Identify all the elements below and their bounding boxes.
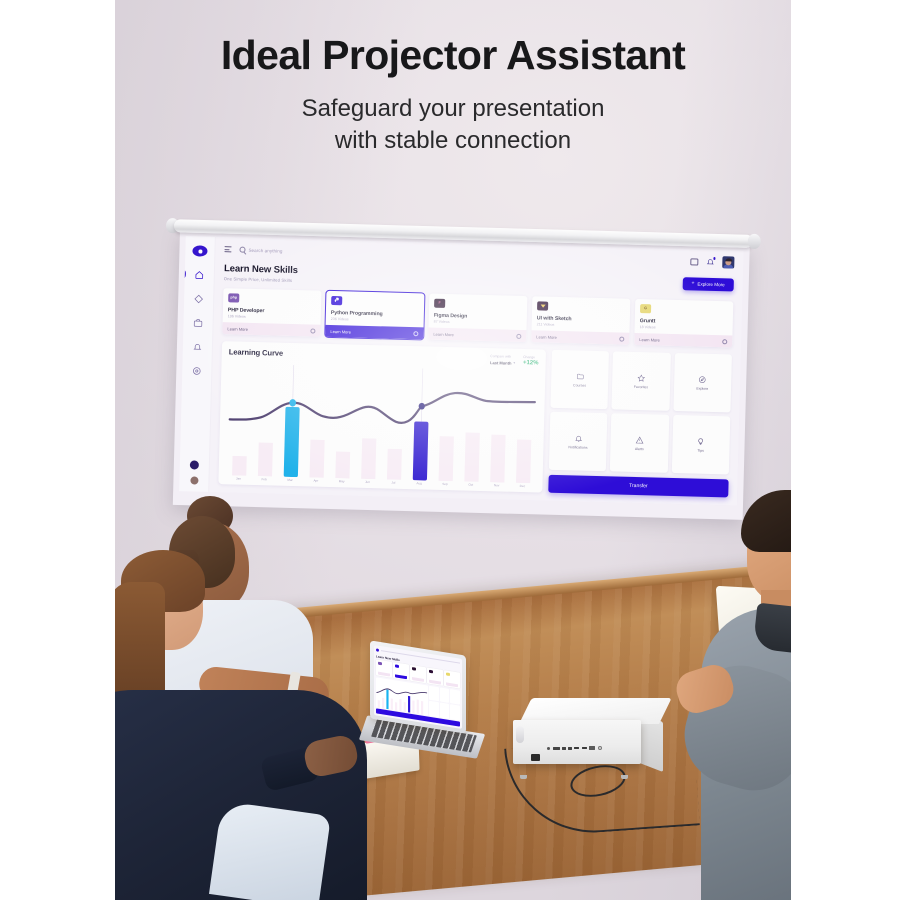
- tile-notifications[interactable]: Notifications: [549, 412, 608, 471]
- explore-more-button[interactable]: + Explore More: [682, 277, 734, 291]
- tile-label: Favorites: [634, 384, 649, 388]
- compare-with-select[interactable]: Compare with Last Month ▾: [490, 354, 515, 366]
- chart-bar-aug-highlight: [413, 421, 429, 480]
- projector-device: [513, 698, 665, 776]
- change-indicator: Change +12%: [523, 355, 539, 366]
- course-cta-label: Learn More: [639, 337, 660, 343]
- port-usb-1: [574, 747, 579, 750]
- course-meta: 236 Videos: [331, 317, 419, 323]
- chart-marker-mar: [289, 399, 296, 406]
- compare-with-label: Compare with: [490, 354, 515, 359]
- roller-cap-right: [748, 234, 761, 249]
- laptop-dashboard-mirror: Learn New Skills: [374, 645, 462, 729]
- course-cta[interactable]: Learn More: [531, 330, 629, 345]
- chart-controls: Compare with Last Month ▾ Change: [490, 354, 539, 366]
- course-meta: 87 Videos: [434, 320, 522, 326]
- bell-icon: [574, 434, 582, 442]
- laptop-front[interactable]: Learn New Skills: [370, 648, 482, 778]
- change-label: Change: [523, 355, 539, 359]
- chart-title: Learning Curve: [229, 347, 284, 357]
- course-cta[interactable]: Learn More: [634, 333, 732, 348]
- chevron-right-icon: [516, 333, 521, 338]
- compare-with-value: Last Month: [490, 360, 511, 366]
- banner-subtitle-line1: Safeguard your presentation: [115, 93, 791, 125]
- plus-icon: +: [691, 282, 694, 287]
- chart-svg: [226, 363, 539, 483]
- sidebar-item-dashboard[interactable]: [193, 292, 205, 304]
- bulb-icon: [697, 437, 705, 445]
- quick-actions-column: Courses Favorites Explore: [548, 350, 732, 498]
- x-tick: May: [329, 479, 355, 484]
- hamburger-icon[interactable]: [224, 246, 231, 252]
- grunt-icon: G: [640, 304, 651, 313]
- x-tick: Apr: [303, 478, 329, 483]
- course-card-selected[interactable]: Python Programming 236 Videos Learn More: [325, 290, 424, 339]
- sidebar-item-courses[interactable]: [192, 316, 204, 328]
- page-subtitle: One Simple Price, Unlimited Skills: [224, 276, 298, 283]
- course-card[interactable]: G Gruntt 18 Videos Learn More: [634, 298, 733, 347]
- python-icon: [331, 295, 342, 304]
- sidebar-bottom: [189, 460, 199, 491]
- tile-label: Notifications: [568, 445, 587, 449]
- x-tick: Nov: [484, 483, 510, 488]
- chevron-right-icon: [413, 331, 418, 336]
- course-card[interactable]: F Figma Design 87 Videos Learn More: [428, 293, 527, 342]
- folder-icon: [576, 372, 584, 380]
- x-tick: Jun: [355, 480, 381, 485]
- banner-title: Ideal Projector Assistant: [115, 34, 791, 77]
- user-avatar[interactable]: [722, 256, 734, 268]
- person-man-grey-shirt: [695, 490, 791, 900]
- page-title: Learn New Skills: [224, 263, 298, 276]
- course-meta: 18 Videos: [640, 325, 728, 331]
- course-card[interactable]: UI with Sketch 211 Videos Learn More: [531, 296, 630, 345]
- sidebar-item-home[interactable]: [193, 268, 205, 280]
- product-marketing-image: Ideal Projector Assistant Safeguard your…: [0, 0, 900, 900]
- tile-label: Explore: [696, 386, 708, 390]
- sidebar-item-notifications[interactable]: [191, 340, 203, 352]
- course-meta: 106 Videos: [228, 314, 316, 320]
- chart-background-bars: [232, 405, 532, 483]
- message-icon[interactable]: [690, 258, 698, 265]
- globe-icon[interactable]: [190, 460, 199, 469]
- port-power: [598, 746, 602, 750]
- port-usb-2: [582, 747, 587, 750]
- banner-subtitle: Safeguard your presentation with stable …: [115, 93, 791, 156]
- learning-curve-panel: Learning Curve Compare with Last Month ▾: [218, 341, 545, 492]
- photo-area: Ideal Projector Assistant Safeguard your…: [115, 0, 791, 900]
- star-icon: [637, 374, 645, 382]
- dashboard-app: Search anything: [179, 236, 743, 506]
- warning-icon: [635, 435, 643, 443]
- projector-lens: [516, 726, 524, 743]
- port-hdmi-1: [568, 747, 572, 750]
- port-vga: [553, 747, 560, 750]
- x-tick: Mar: [277, 478, 303, 483]
- laptop-screen: Learn New Skills: [374, 645, 462, 729]
- tile-label: Tips: [697, 448, 704, 452]
- course-card[interactable]: php PHP Developer 106 Videos Learn More: [222, 288, 321, 337]
- x-tick: Aug: [406, 481, 432, 486]
- x-tick: Sep: [432, 482, 458, 487]
- chevron-right-icon: [619, 336, 624, 341]
- tile-label: Courses: [573, 383, 586, 387]
- sketch-icon: [537, 301, 548, 310]
- tile-favorites[interactable]: Favorites: [612, 351, 671, 410]
- projection-screen: Search anything: [173, 230, 750, 520]
- port-audio: [547, 747, 550, 750]
- x-tick: Feb: [251, 477, 277, 482]
- search-input[interactable]: Search anything: [239, 247, 282, 254]
- explore-more-label: Explore More: [697, 282, 724, 288]
- person-dark-suit: [115, 660, 367, 900]
- change-value: +12%: [523, 360, 539, 366]
- banner-subtitle-line2: with stable connection: [115, 125, 791, 157]
- topbar-actions: [690, 255, 734, 268]
- learning-curve-chart: [226, 363, 539, 483]
- quick-actions-grid: Courses Favorites Explore: [549, 350, 732, 475]
- figma-icon: F: [434, 298, 445, 307]
- tile-alerts[interactable]: Alerts: [610, 413, 669, 472]
- x-tick: Dec: [509, 484, 535, 489]
- projector-ports: [547, 746, 602, 750]
- app-logo-icon[interactable]: [192, 245, 207, 256]
- port-av: [562, 747, 566, 750]
- tile-courses[interactable]: Courses: [550, 350, 609, 409]
- tile-explore[interactable]: Explore: [673, 353, 732, 412]
- course-cta[interactable]: Learn More: [428, 328, 526, 343]
- dashboard-main: Search anything: [209, 237, 743, 506]
- notification-bell-icon[interactable]: [706, 258, 714, 266]
- search-placeholder: Search anything: [248, 247, 282, 253]
- course-cta-label: Learn More: [433, 331, 454, 337]
- projection-surface: Search anything: [179, 236, 743, 506]
- x-tick: Jul: [380, 480, 406, 485]
- course-cta-label: Learn More: [227, 326, 248, 332]
- projector-power-switch[interactable]: [531, 754, 540, 761]
- course-card-list: php PHP Developer 106 Videos Learn More: [222, 288, 733, 348]
- course-cta[interactable]: Learn More: [325, 325, 423, 340]
- chevron-down-icon: ▾: [513, 361, 515, 365]
- dashboard-lower: Learning Curve Compare with Last Month ▾: [218, 341, 732, 505]
- search-icon: [239, 247, 245, 253]
- compass-icon: [698, 375, 706, 383]
- course-cta[interactable]: Learn More: [222, 322, 320, 337]
- chevron-right-icon: [310, 328, 315, 333]
- tile-label: Alerts: [635, 446, 644, 450]
- chart-line: [230, 387, 535, 427]
- x-tick: Oct: [458, 482, 484, 487]
- course-cta-label: Learn More: [330, 328, 351, 334]
- chart-bar-mar-highlight: [284, 407, 300, 477]
- x-tick: Jan: [225, 476, 251, 481]
- port-lan: [589, 746, 595, 750]
- sidebar-item-settings[interactable]: [191, 364, 203, 376]
- tile-tips[interactable]: Tips: [671, 415, 730, 474]
- sidebar-avatar-icon[interactable]: [190, 476, 198, 484]
- chevron-right-icon: [722, 339, 727, 344]
- course-meta: 211 Videos: [537, 322, 625, 328]
- course-cta-label: Learn More: [536, 334, 557, 340]
- banner: Ideal Projector Assistant Safeguard your…: [115, 34, 791, 156]
- php-icon: php: [228, 293, 239, 302]
